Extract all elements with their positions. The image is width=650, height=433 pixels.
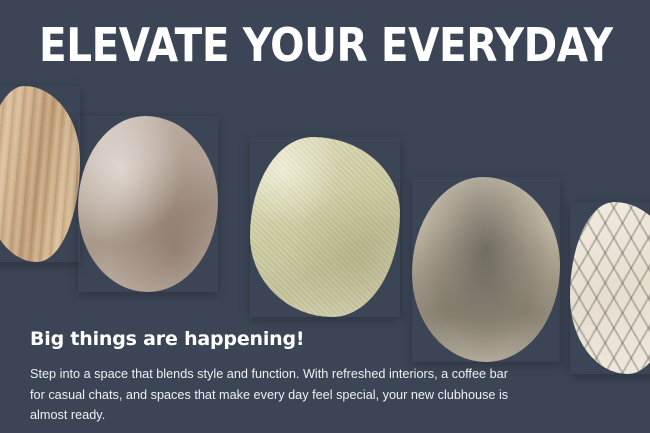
body-paragraph: Step into a space that blends style and … [30,364,510,426]
cream-pattern-swatch-image [570,202,650,374]
sage-textured-swatch-image [250,137,400,317]
taupe-cloud-swatch-image [78,116,218,292]
page-title: ELEVATE YOUR EVERYDAY [39,22,611,68]
body-copy-block: Big things are happening! Step into a sp… [30,328,540,426]
wood-grain-swatch-image [0,86,80,262]
cream-pattern-swatch [570,202,650,374]
promo-banner: ELEVATE YOUR EVERYDAY Big things are hap… [0,0,650,433]
sage-textured-swatch [250,137,400,317]
subheading: Big things are happening! [30,328,540,350]
wood-grain-swatch [0,86,80,262]
taupe-cloud-swatch [78,116,218,292]
